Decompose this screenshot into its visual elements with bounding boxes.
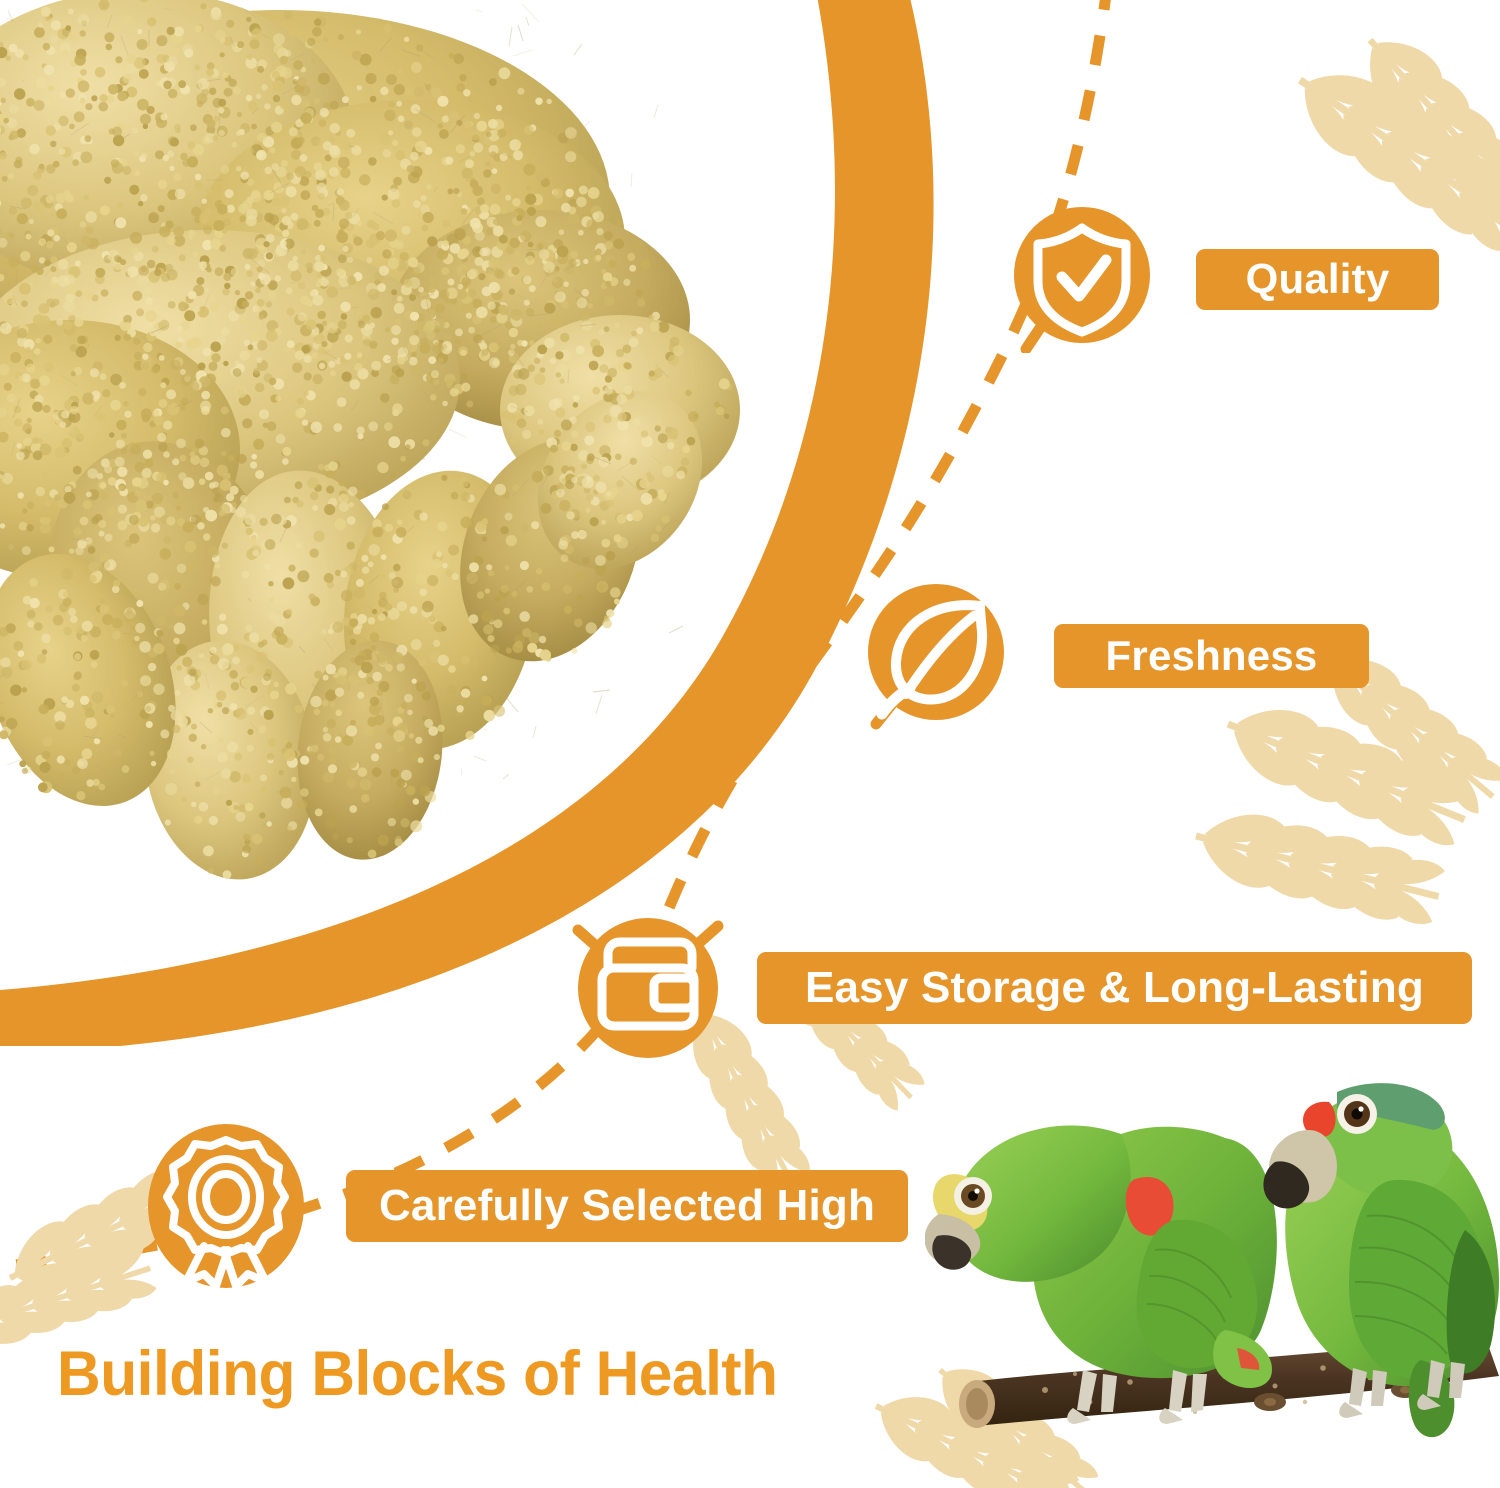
shield-check-magnifier-icon — [1008, 205, 1156, 353]
badge-label-easy-storage: Easy Storage & Long-Lasting — [805, 966, 1424, 1010]
wallet-storage-icon — [572, 912, 724, 1064]
badge-carefully-selected[interactable]: Carefully Selected High — [346, 1170, 908, 1242]
badge-label-quality: Quality — [1246, 258, 1390, 300]
badge-freshness[interactable]: Freshness — [1054, 624, 1369, 688]
feature-freshness[interactable]: Freshness — [862, 582, 1369, 730]
badge-quality[interactable]: Quality — [1196, 249, 1439, 310]
feature-carefully-selected[interactable]: Carefully Selected High — [142, 1122, 908, 1290]
badge-label-carefully-selected: Carefully Selected High — [379, 1184, 875, 1228]
award-rosette-icon — [142, 1122, 310, 1290]
feature-easy-storage[interactable]: Easy Storage & Long-Lasting — [572, 912, 1472, 1064]
badge-label-freshness: Freshness — [1106, 635, 1318, 677]
pet-photo-parrots — [925, 1030, 1500, 1488]
page-headline: Building Blocks of Health — [57, 1338, 778, 1410]
infographic-canvas: Quality Freshness — [0, 0, 1500, 1488]
feature-quality[interactable]: Quality — [1008, 205, 1439, 353]
leaf-icon — [862, 582, 1010, 730]
badge-easy-storage[interactable]: Easy Storage & Long-Lasting — [757, 952, 1472, 1024]
